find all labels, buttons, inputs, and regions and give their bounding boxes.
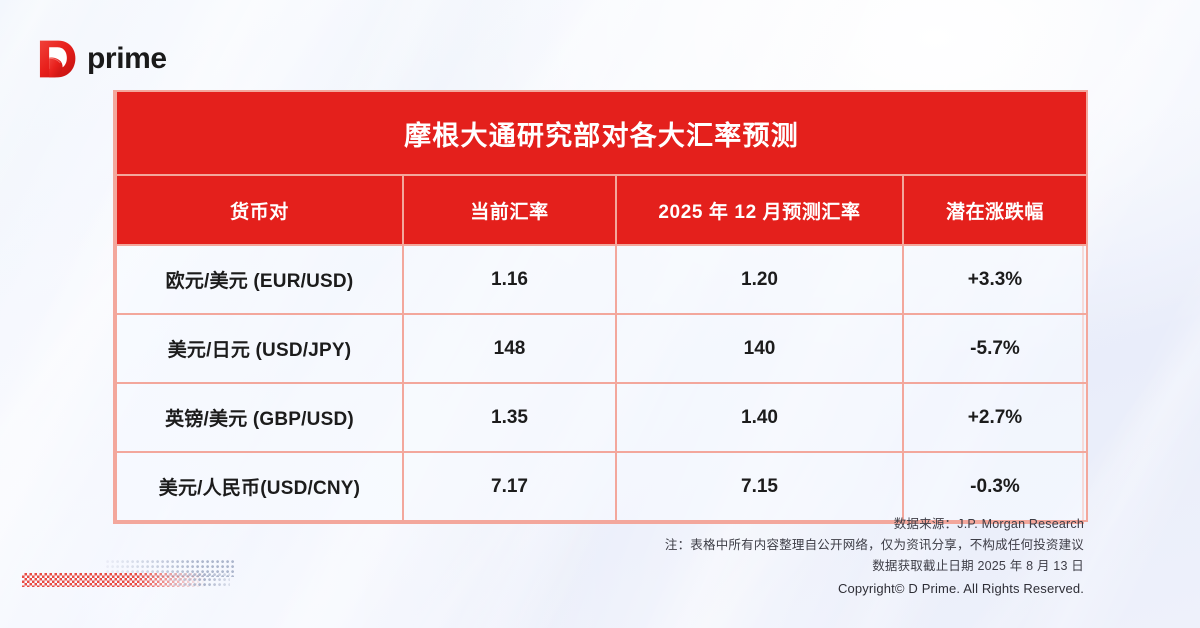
- gray-halftone-dot-grid: [106, 560, 234, 577]
- note-data-source: 数据来源：J.P. Morgan Research: [400, 514, 1084, 535]
- cell-currency-pair: 英镑/美元 (GBP/USD): [116, 383, 403, 452]
- cell-currency-pair: 美元/人民币(USD/CNY): [116, 452, 403, 521]
- decorative-halftone: [22, 560, 234, 594]
- table-title-cell: 摩根大通研究部对各大汇率预测: [116, 91, 1087, 175]
- cell-currency-pair: 欧元/美元 (EUR/USD): [116, 245, 403, 314]
- cell-currency-pair: 美元/日元 (USD/JPY): [116, 314, 403, 383]
- table-row: 英镑/美元 (GBP/USD) 1.35 1.40 +2.7%: [116, 383, 1087, 452]
- cell-current-rate: 7.17: [403, 452, 616, 521]
- cell-potential-change: -0.3%: [903, 452, 1087, 521]
- cell-forecast-rate: 1.40: [616, 383, 903, 452]
- page-title: 摩根大通研究部对各大汇率预测: [404, 121, 799, 151]
- table-title-row: 摩根大通研究部对各大汇率预测: [116, 91, 1087, 175]
- red-halftone-checker-band: [22, 573, 206, 587]
- column-header-current-rate: 当前汇率: [403, 175, 616, 245]
- column-header-potential-change: 潜在涨跌幅: [903, 175, 1087, 245]
- column-header-currency-pair: 货币对: [116, 175, 403, 245]
- brand-logo: prime: [36, 38, 167, 80]
- table-header-row: 货币对 当前汇率 2025 年 12 月预测汇率 潜在涨跌幅: [116, 175, 1087, 245]
- footnotes: 数据来源：J.P. Morgan Research 注：表格中所有内容整理自公开…: [400, 514, 1084, 577]
- cell-current-rate: 1.35: [403, 383, 616, 452]
- table-row: 美元/人民币(USD/CNY) 7.17 7.15 -0.3%: [116, 452, 1087, 521]
- cell-current-rate: 148: [403, 314, 616, 383]
- poster-canvas: prime 摩根大通研究部对各大汇率预测 货币对 当前汇率 2025 年 12 …: [0, 0, 1200, 628]
- fx-forecast-table-container: 摩根大通研究部对各大汇率预测 货币对 当前汇率 2025 年 12 月预测汇率 …: [113, 90, 1084, 524]
- cell-potential-change: -5.7%: [903, 314, 1087, 383]
- table-row: 美元/日元 (USD/JPY) 148 140 -5.7%: [116, 314, 1087, 383]
- brand-wordmark: prime: [87, 44, 167, 74]
- cell-potential-change: +2.7%: [903, 383, 1087, 452]
- fx-forecast-table: 摩根大通研究部对各大汇率预测 货币对 当前汇率 2025 年 12 月预测汇率 …: [115, 90, 1088, 522]
- note-data-cutoff: 数据获取截止日期 2025 年 8 月 13 日: [400, 556, 1084, 577]
- gray-halftone-dot-grid-lower: [168, 573, 230, 587]
- cell-forecast-rate: 140: [616, 314, 903, 383]
- cell-forecast-rate: 1.20: [616, 245, 903, 314]
- note-disclaimer: 注：表格中所有内容整理自公开网络，仅为资讯分享，不构成任何投资建议: [400, 535, 1084, 556]
- column-header-forecast-rate: 2025 年 12 月预测汇率: [616, 175, 903, 245]
- cell-forecast-rate: 7.15: [616, 452, 903, 521]
- copyright-notice: Copyright© D Prime. All Rights Reserved.: [500, 581, 1084, 596]
- cell-current-rate: 1.16: [403, 245, 616, 314]
- table-row: 欧元/美元 (EUR/USD) 1.16 1.20 +3.3%: [116, 245, 1087, 314]
- cell-potential-change: +3.3%: [903, 245, 1087, 314]
- d-prime-logo-mark: [36, 38, 78, 80]
